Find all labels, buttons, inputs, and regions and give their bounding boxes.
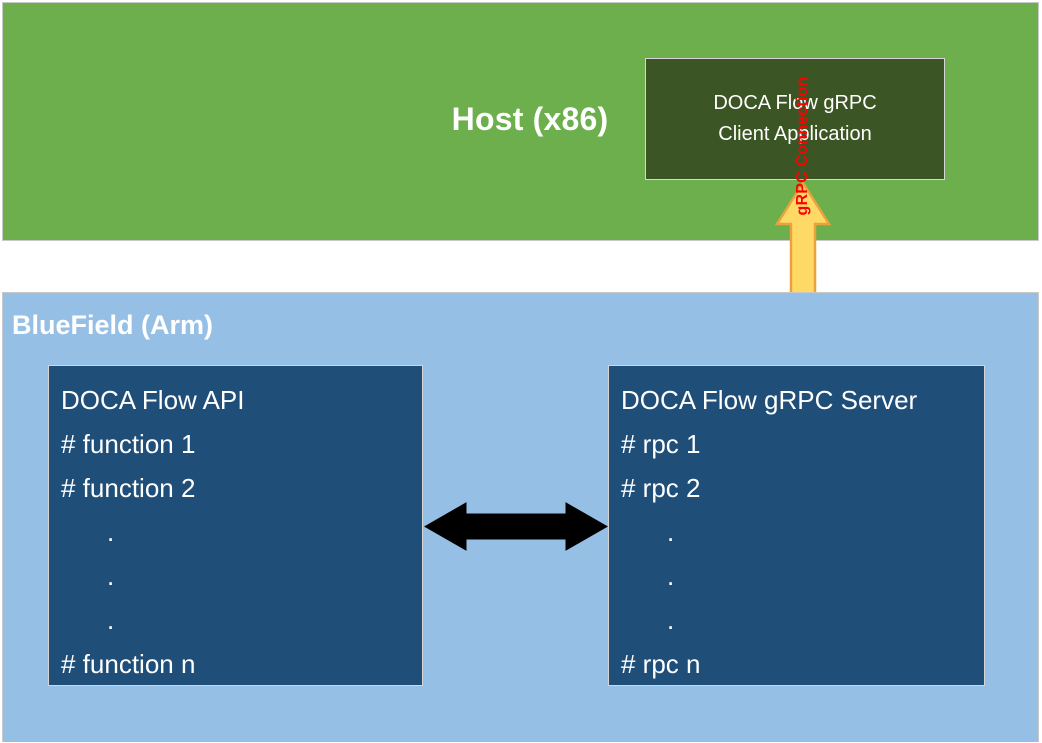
doca-flow-api-panel: DOCA Flow API # function 1 # function 2 … — [48, 365, 423, 686]
doca-flow-grpc-server-panel: DOCA Flow gRPC Server # rpc 1 # rpc 2 . … — [608, 365, 985, 686]
diagram-canvas: Host (x86) DOCA Flow gRPC Client Applica… — [0, 0, 1042, 743]
api-server-link-arrow-icon — [424, 502, 608, 551]
doca-flow-grpc-server-heading: DOCA Flow gRPC Server — [621, 378, 984, 422]
doca-flow-api-row-last: # function n — [61, 642, 422, 686]
doca-flow-api-heading: DOCA Flow API — [61, 378, 422, 422]
doca-flow-grpc-server-row-1: # rpc 1 — [621, 422, 984, 466]
grpc-client-application-box: DOCA Flow gRPC Client Application — [645, 58, 945, 180]
doca-flow-api-ellipsis-2: . — [61, 554, 422, 598]
doca-flow-api-row-2: # function 2 — [61, 466, 422, 510]
doca-flow-api-ellipsis-1: . — [61, 510, 422, 554]
doca-flow-grpc-server-row-2: # rpc 2 — [621, 466, 984, 510]
grpc-client-application-line-1: DOCA Flow gRPC — [713, 88, 876, 119]
doca-flow-api-ellipsis-3: . — [61, 598, 422, 642]
bluefield-section-title: BlueField (Arm) — [12, 308, 213, 342]
doca-flow-grpc-server-row-last: # rpc n — [621, 642, 984, 686]
doca-flow-grpc-server-ellipsis-2: . — [621, 554, 984, 598]
doca-flow-api-row-1: # function 1 — [61, 422, 422, 466]
doca-flow-grpc-server-ellipsis-3: . — [621, 598, 984, 642]
doca-flow-grpc-server-ellipsis-1: . — [621, 510, 984, 554]
grpc-client-application-line-2: Client Application — [718, 119, 871, 150]
host-section-title: Host (x86) — [430, 100, 630, 138]
